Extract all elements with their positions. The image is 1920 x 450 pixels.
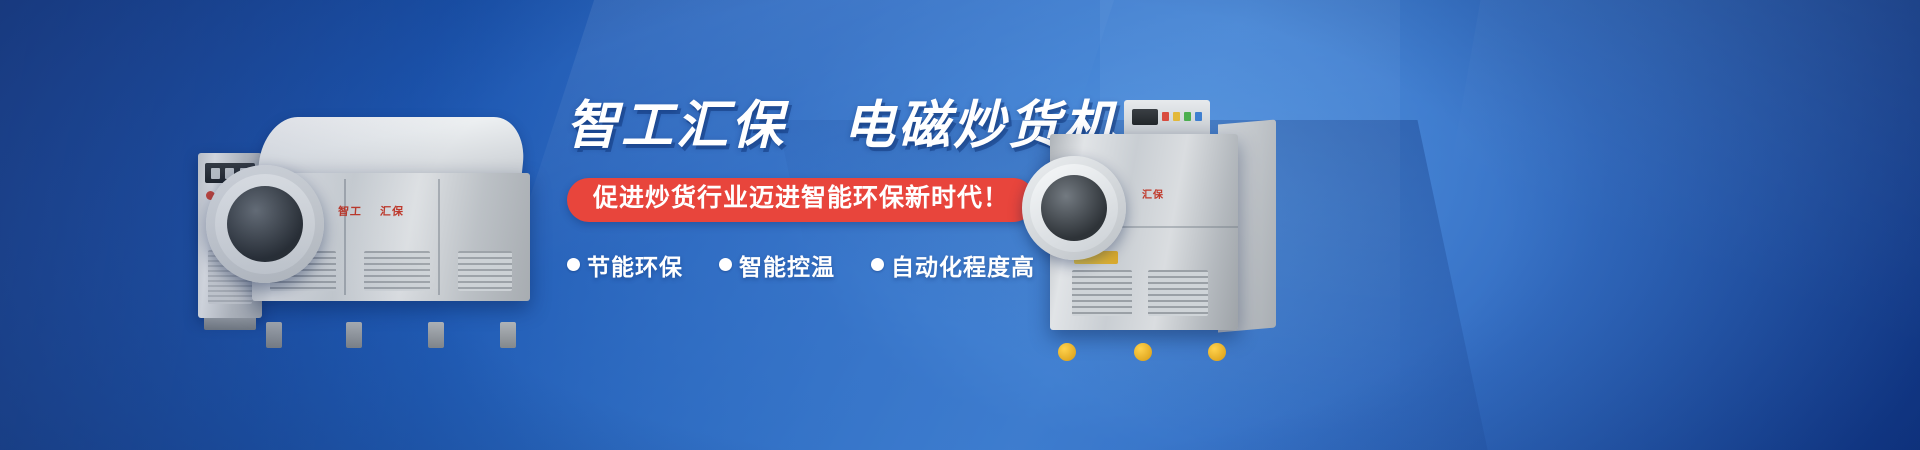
left-machine-brand-mark-2: 汇保 [379,203,404,219]
right-machine-brand-mark-2: 汇保 [1142,186,1164,201]
banner-headline: 智工汇保 电磁炒货机 [566,100,1036,152]
product-image-right-roaster: 智工 汇保 [1040,100,1280,355]
feature-list: 节能环保 智能控温 自动化程度高 [566,248,1036,282]
button-blue-icon [1195,112,1202,121]
right-roaster-casters [1058,335,1238,361]
subtitle-badge: 促进炒货行业迈进智能环保新时代！ [567,178,1035,222]
bullet-dot-icon [719,258,732,271]
cabinet-seam [344,179,346,295]
background-shard-4 [1392,0,1920,450]
product-image-left-roaster: 智工 汇保 [180,95,550,350]
button-green-icon [1184,112,1191,121]
left-cabinet-base [204,318,256,330]
left-roaster-legs [262,320,520,348]
drum-opening [1041,175,1107,241]
cabinet-louver [1072,270,1132,316]
feature-item-automation: 自动化程度高 [871,248,1035,282]
left-roaster-drum [206,165,324,283]
feature-item-smart-temperature: 智能控温 [719,248,835,282]
right-button-group [1162,112,1202,121]
subtitle-text: 促进炒货行业迈进智能环保新时代！ [593,184,1009,212]
button-red-icon [1162,112,1169,121]
feature-label: 自动化程度高 [891,248,1035,282]
right-display-screen [1132,109,1158,125]
feature-item-energy-saving: 节能环保 [567,248,683,282]
feature-label: 节能环保 [587,248,683,282]
bullet-dot-icon [567,258,580,271]
feature-label: 智能控温 [739,248,835,282]
bullet-dot-icon [871,258,884,271]
banner-copy-block: 智工汇保 电磁炒货机 促进炒货行业迈进智能环保新时代！ 节能环保 智能控温 自动… [566,100,1036,282]
cabinet-louver [458,251,512,291]
headline-brand: 智工汇保 [566,97,786,155]
cabinet-louver [1148,270,1208,316]
drum-opening [227,186,303,262]
promo-banner: 智工 汇保 智工汇保 电磁炒货机 促进炒货行业迈进智能环保新时代！ 节能环保 智… [0,0,1920,450]
cabinet-louver [364,251,430,291]
button-yellow-icon [1173,112,1180,121]
cabinet-seam [438,179,440,295]
left-roaster-body: 智工 汇保 [252,117,530,322]
left-machine-brand-mark-1: 智工 [337,203,362,219]
right-roaster-drum [1022,156,1126,260]
